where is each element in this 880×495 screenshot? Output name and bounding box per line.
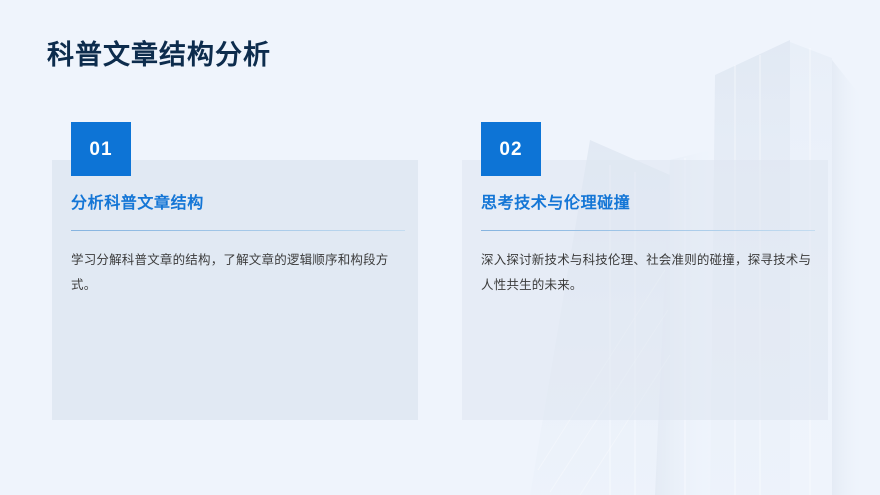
- card-number-label: 02: [499, 140, 522, 159]
- card-number-label: 01: [89, 140, 112, 159]
- cards-container: 01 分析科普文章结构 学习分解科普文章的结构，了解文章的逻辑顺序和构段方式。 …: [52, 122, 828, 422]
- card-text-02: 深入探讨新技术与科技伦理、社会准则的碰撞，探寻技术与人性共生的未来。: [481, 248, 815, 298]
- card-content-02: 思考技术与伦理碰撞 深入探讨新技术与科技伦理、社会准则的碰撞，探寻技术与人性共生…: [481, 194, 815, 298]
- card-text-01: 学习分解科普文章的结构，了解文章的逻辑顺序和构段方式。: [71, 248, 405, 298]
- card-divider-02: [481, 230, 815, 232]
- card-heading-02: 思考技术与伦理碰撞: [481, 194, 815, 215]
- card-number-badge-01: 01: [71, 122, 131, 176]
- slide-root: 科普文章结构分析 01 分析科普文章结构 学习分解科普文章的结构，了解文章的逻辑…: [0, 0, 880, 495]
- card-heading-01: 分析科普文章结构: [71, 194, 405, 215]
- card-number-badge-02: 02: [481, 122, 541, 176]
- card-divider-01: [71, 230, 405, 232]
- card-content-01: 分析科普文章结构 学习分解科普文章的结构，了解文章的逻辑顺序和构段方式。: [71, 194, 405, 298]
- page-title: 科普文章结构分析: [47, 39, 271, 71]
